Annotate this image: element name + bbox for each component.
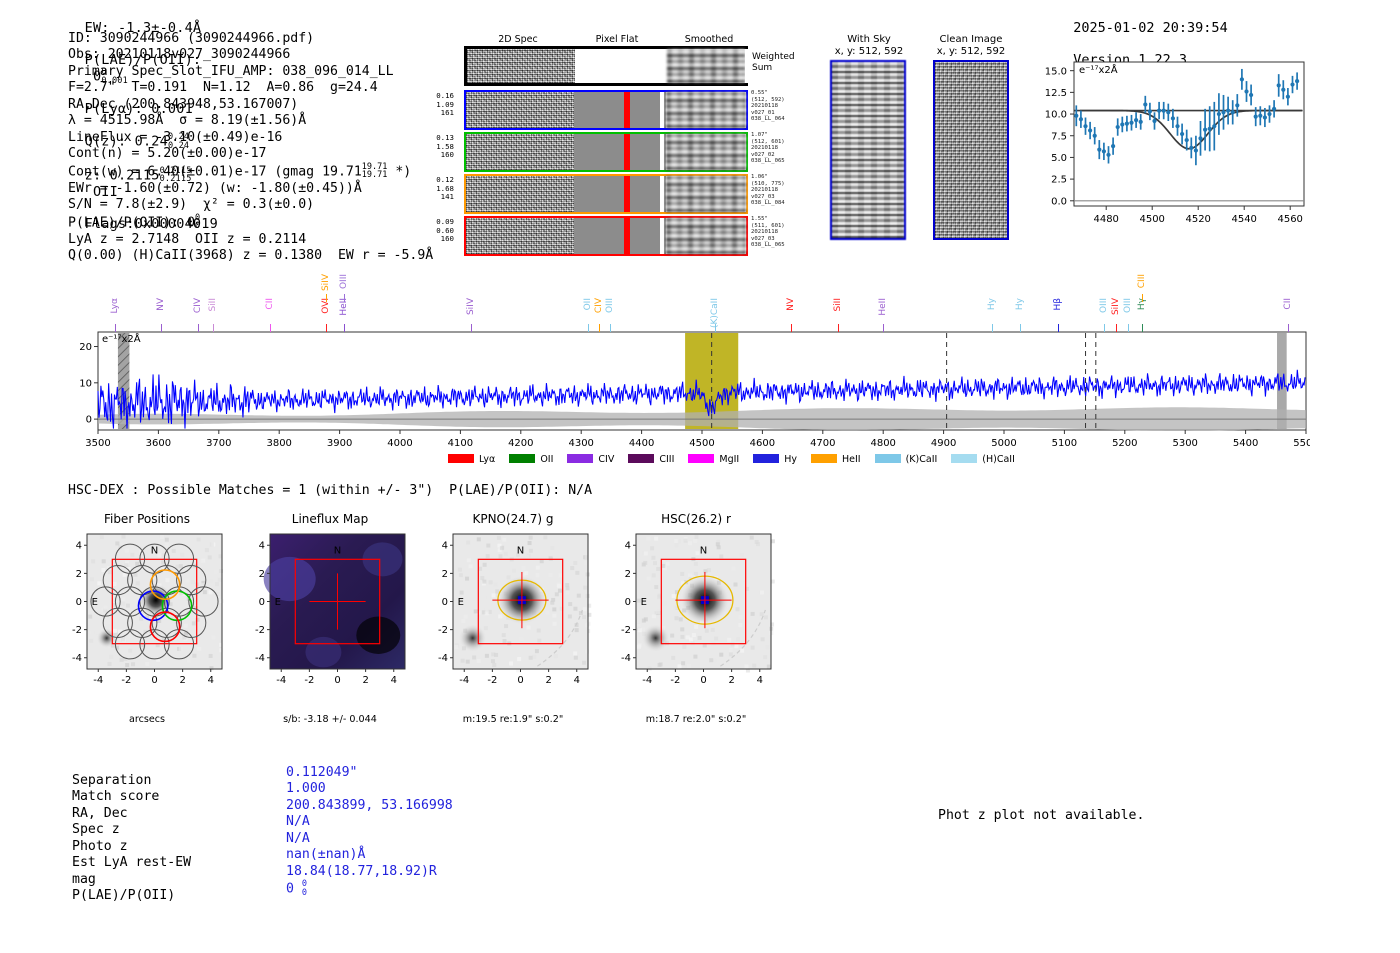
info-id: ID: 3090244966 (3090244966.pdf) [68,31,433,47]
svg-text:3700: 3700 [206,438,231,449]
svg-text:0.0: 0.0 [1051,196,1067,207]
svg-text:N: N [151,546,158,557]
match-table-key: Photo z [72,839,191,855]
legend-label: HeII [842,454,861,465]
cutout-title: Fiber Positions [57,512,237,526]
match-table-value: 1.000 [286,781,453,797]
svg-text:4: 4 [208,675,214,686]
svg-text:E: E [458,597,464,608]
emission-line-label-layer: LyαNVCIVSiIICIIOVISiIVHeIIOIIISiIVOIICIV… [60,272,1310,334]
info-cont-w-text: Cont(w) = 6.40(±0.01)e-17 (gmag 19.71 [68,164,362,179]
svg-text:E: E [641,597,647,608]
svg-text:0: 0 [700,675,706,686]
emission-line-tick [344,294,345,302]
fiber-row[interactable] [464,216,748,256]
svg-text:N: N [700,546,707,557]
fiber-center-marker [624,134,630,170]
info-ewr: EWr = -1.60(±0.72) (w: -1.80(±0.45))Å [68,181,433,197]
emission-line-tick [1142,294,1143,302]
svg-text:2: 2 [179,675,185,686]
svg-text:4520: 4520 [1185,214,1210,225]
cutout-title: KPNO(24.7) g [423,512,603,526]
emission-line-tick [326,294,327,302]
fiber-row[interactable] [464,132,748,172]
weighted-sum-pixelflat-image [575,49,667,83]
svg-text:4480: 4480 [1093,214,1118,225]
emission-line-label: CIV [193,298,203,313]
emission-line-label: Hy [987,298,997,310]
fiber-2dspec-image [466,176,574,212]
svg-text:4: 4 [76,541,82,552]
fiber-edge-marker [660,218,664,254]
fiber-id-label: 1.06" (510, 775) 20210118 v027_03 038_LL… [751,174,785,207]
fiber-id-label: 0.55" (512, 592) 20210118 v027_01 038_LL… [751,90,785,123]
emission-line-label: HeII [878,298,888,316]
emission-line-label: OIII [339,274,349,289]
emission-line-tick [213,324,214,332]
match-table-key: P(LAE)/P(OII) [72,888,191,904]
svg-text:2: 2 [728,675,734,686]
emission-line-label: SiII [208,298,218,312]
info-cont-w-sub: 19.71 [362,171,388,180]
svg-text:-2: -2 [487,675,497,686]
match-table-plae-value: 0 [286,882,294,897]
svg-text:-2: -2 [670,675,680,686]
fiber-row[interactable] [464,174,748,214]
svg-text:2: 2 [362,675,368,686]
fiber-metrics: 0.09 0.60 160 [418,218,454,244]
fiber-smoothed-image [666,92,746,128]
emission-line-label: SiIV [466,298,476,315]
emission-line-tick [883,324,884,332]
svg-text:2.5: 2.5 [1051,175,1067,186]
emission-line-tick [1104,324,1105,332]
cutout-caption: s/b: -3.18 +/- 0.044 [240,714,420,725]
svg-text:10: 10 [79,378,92,389]
cutout-caption: arcsecs [57,714,237,725]
svg-text:4500: 4500 [1139,214,1164,225]
svg-text:2: 2 [259,569,265,580]
fiber-smoothed-image [666,218,746,254]
svg-text:5100: 5100 [1052,438,1077,449]
col-header-pixelflat: Pixel Flat [572,34,662,45]
svg-text:3800: 3800 [266,438,291,449]
weighted-sum-2dspec-image [467,49,575,83]
cutout-panel-hsc-r[interactable]: HSC(26.2) r NE-4-4-2-2002244 m:18.7 re:2… [606,512,786,712]
svg-text:-4: -4 [276,675,286,686]
fiber-metrics: 0.12 1.68 141 [418,176,454,202]
match-table-key: Match score [72,789,191,805]
legend-item: CIV [567,454,614,465]
fiber-center-marker [624,218,630,254]
svg-text:20: 20 [79,342,92,353]
legend-item: CIII [628,454,674,465]
emission-line-label: CII [1283,298,1293,310]
legend-label: MgII [719,454,739,465]
fiber-2dspec-image [466,92,574,128]
match-table-key: Spec z [72,822,191,838]
info-lambda-sigma: λ = 4515.98Å σ = 8.19(±1.56)Å [68,113,433,129]
fiber-metrics: 0.13 1.58 160 [418,134,454,160]
with-sky-title: With Sky [826,34,912,45]
weighted-sum-label: Weighted Sum [752,52,795,74]
svg-text:0: 0 [334,675,340,686]
svg-text:5200: 5200 [1112,438,1137,449]
emission-line-label: OII [583,298,593,310]
svg-text:0: 0 [625,597,631,608]
info-radec: RA,Dec (200.843948,53.167007) [68,97,433,113]
svg-text:0: 0 [86,415,92,426]
svg-text:0: 0 [517,675,523,686]
weighted-sum-divider [745,49,748,83]
cutout-panel-kpno-g[interactable]: KPNO(24.7) g NE-4-4-2-2002244 m:19.5 re:… [423,512,603,712]
info-plae: P(LAE)/P(OII): 000 [68,214,433,232]
match-table-key: Est LyA rest-EW [72,855,191,871]
fiber-center-marker [624,176,630,212]
fiber-id-label: 1.07" (512, 601) 20210118 v027_02 038_LL… [751,132,785,165]
fiber-metric-3: 141 [418,193,454,202]
emission-line-tick [1128,324,1129,332]
info-qline: Q(0.00) (H)CaII(3968) z = 0.1380 EW r = … [68,248,433,264]
svg-text:4: 4 [757,675,763,686]
legend-label: (H)CaII [982,454,1015,465]
emission-line-label: OIII [1123,298,1133,313]
emission-line-label: NV [156,298,166,311]
cutout-caption: m:19.5 re:1.9" s:0.2" [423,714,603,725]
svg-text:-2: -2 [72,625,82,636]
match-table-value: N/A [286,831,453,847]
legend-swatch [628,454,654,463]
emission-line-label: Lyα [110,298,120,313]
emission-line-label: CIII [1137,274,1147,288]
fiber-edge-marker [660,92,664,128]
emission-line-tick [588,324,589,332]
svg-text:-2: -2 [621,625,631,636]
emission-line-label: Hy [1015,298,1025,310]
svg-text:-2: -2 [438,625,448,636]
fiber-metric-3: 161 [418,109,454,118]
emission-line-label: SiIV [1111,298,1121,315]
svg-text:7.5: 7.5 [1051,131,1067,142]
fiber-2dspec-image [466,134,574,170]
fiber-pixelflat-image [574,134,666,170]
emission-line-tick [1058,324,1059,332]
svg-text:5300: 5300 [1172,438,1197,449]
cutout-panel-lineflux-map[interactable]: Lineflux Map NE-4-4-2-2002244 s/b: -3.18… [240,512,420,712]
info-redshifts: LyA z = 2.7148 OII z = 0.2114 [68,232,433,248]
legend-swatch [448,454,474,463]
svg-text:15.0: 15.0 [1045,66,1067,77]
fiber-pixelflat-image [574,176,666,212]
emission-line-label: Hβ [1053,298,1063,311]
svg-text:5500: 5500 [1293,438,1310,449]
svg-text:0: 0 [151,675,157,686]
svg-text:2: 2 [545,675,551,686]
cutout-svg-kpno-g: NE-4-4-2-2002244 [423,526,603,712]
legend-item: Lyα [448,454,495,465]
match-table-value: nan(±nan)Å [286,847,453,863]
fiber-center-marker [624,92,630,128]
match-table-values: 0.112049"1.000200.843899, 53.166998N/AN/… [286,765,453,898]
svg-text:-2: -2 [255,625,265,636]
svg-text:-2: -2 [304,675,314,686]
legend-label: Lyα [479,454,495,465]
cutout-title: Lineflux Map [240,512,420,526]
emission-line-tick [1020,324,1021,332]
svg-text:3500: 3500 [85,438,110,449]
svg-text:2: 2 [442,569,448,580]
legend-swatch [567,454,593,463]
fiber-metric-3: 160 [418,235,454,244]
svg-text:E: E [275,597,281,608]
info-sn-chi2: S/N = 7.8(±2.9) χ² = 0.3(±0.0) [68,197,433,213]
svg-text:-4: -4 [642,675,652,686]
fiber-edge-marker [660,134,664,170]
emission-line-label: SiII [833,298,843,312]
legend-item: HeII [811,454,861,465]
cutout-panel-fiber-positions[interactable]: Fiber Positions NE-4-4-2-2002244 arcsecs [57,512,237,712]
match-table-value: 200.843899, 53.166998 [286,798,453,814]
match-table-plae-sub: 0 [302,889,307,898]
legend-label: CIV [598,454,614,465]
emission-line-tick [715,324,716,332]
svg-text:N: N [334,546,341,557]
legend-item: (H)CaII [951,454,1015,465]
match-table-value: 18.84(18.77,18.92)R [286,864,453,880]
emission-line-tick [838,324,839,332]
svg-text:4560: 4560 [1277,214,1302,225]
fiber-pixelflat-image [574,92,666,128]
emission-line-label: CIV [594,298,604,313]
emission-line-tick [344,324,345,332]
legend-swatch [951,454,977,463]
match-table-key: mag [72,872,191,888]
svg-text:E: E [92,597,98,608]
legend-item: (K)CaII [875,454,938,465]
cutout-svg-hsc-r: NE-4-4-2-2002244 [606,526,786,712]
svg-text:0: 0 [259,597,265,608]
svg-text:-2: -2 [121,675,131,686]
cutout-caption: m:18.7 re:2.0" s:0.2" [606,714,786,725]
svg-text:4000: 4000 [387,438,412,449]
match-table-value: 0 00 [286,880,453,898]
match-table-value: 0.112049" [286,765,453,781]
svg-text:4: 4 [625,541,631,552]
col-header-smoothed: Smoothed [664,34,754,45]
svg-text:5.0: 5.0 [1051,153,1067,164]
cutout-svg-fiber-positions: NE-4-4-2-2002244 [57,526,237,712]
with-sky-coords: x, y: 512, 592 [818,46,920,57]
info-plae-label: P(LAE)/P(OII): 0 [68,215,195,230]
legend-label: (K)CaII [906,454,938,465]
with-sky-image[interactable] [830,60,906,240]
info-params: F=2.7" T=0.191 N=1.12 A=0.86 g=24.4 [68,80,433,96]
detection-info-block: ID: 3090244966 (3090244966.pdf) Obs: 202… [68,31,433,265]
emission-line-tick [270,324,271,332]
svg-text:e⁻¹⁷x2Å: e⁻¹⁷x2Å [1079,63,1118,76]
cutout-svg-lineflux-map: NE-4-4-2-2002244 [240,526,420,712]
svg-text:-4: -4 [621,653,631,664]
info-obs: Obs: 20210118v027_3090244966 [68,47,433,63]
svg-text:5400: 5400 [1233,438,1258,449]
fiber-id-label: 1.55" (511, 601) 20210118 v027_03 038_LL… [751,216,785,249]
clean-image-cutout[interactable] [933,60,1009,240]
fiber-smoothed-image [666,134,746,170]
svg-text:4540: 4540 [1231,214,1256,225]
fiber-row[interactable] [464,90,748,130]
svg-text:0: 0 [76,597,82,608]
weighted-sum-strip [464,46,748,86]
photz-note: Phot z plot not available. [938,808,1144,823]
spectrum-legend: LyαOIICIVCIIIMgIIHyHeII(K)CaII(H)CaII [448,447,1029,461]
svg-text:N: N [517,546,524,557]
legend-item: OII [509,454,553,465]
match-table-value: N/A [286,814,453,830]
legend-swatch [509,454,535,463]
svg-text:0: 0 [442,597,448,608]
match-table-key: Separation [72,773,191,789]
fiber-pixelflat-image [574,218,666,254]
emission-line-tick [1288,324,1289,332]
info-cont-w-post: *) [395,164,411,179]
col-header-2dspec: 2D Spec [468,34,568,45]
info-lineflux: LineFlux = -3.10(±0.49)e-16 [68,130,433,146]
legend-label: CIII [659,454,674,465]
svg-text:3600: 3600 [146,438,171,449]
emission-line-label: CII [265,298,275,310]
info-plae-sub: 0 [195,222,200,231]
match-table-key: RA, Dec [72,806,191,822]
svg-text:4: 4 [442,541,448,552]
header-timestamp: 2025-01-02 20:39:54 [1073,20,1227,36]
svg-text:-4: -4 [438,653,448,664]
legend-swatch [875,454,901,463]
line-fit-svg: 0.02.55.07.510.012.515.04480450045204540… [1028,48,1310,248]
cutout-title: HSC(26.2) r [606,512,786,526]
weighted-sum-smoothed-image [667,49,745,83]
emission-line-tick [1116,324,1117,332]
svg-text:3900: 3900 [327,438,352,449]
emission-line-tick [1142,324,1143,332]
svg-text:2: 2 [76,569,82,580]
svg-text:2: 2 [625,569,631,580]
info-cont-n: Cont(n) = 5.20(±0.00)e-17 [68,146,433,162]
clean-image-coords: x, y: 512, 592 [920,46,1022,57]
fiber-metric-3: 160 [418,151,454,160]
emission-line-tick [198,324,199,332]
legend-label: OII [540,454,553,465]
svg-text:-4: -4 [72,653,82,664]
svg-text:4: 4 [259,541,265,552]
match-table-keys: SeparationMatch scoreRA, DecSpec zPhoto … [72,773,191,905]
emission-line-tick [791,324,792,332]
emission-line-tick [992,324,993,332]
legend-item: MgII [688,454,739,465]
emission-line-tick [610,324,611,332]
legend-item: Hy [753,454,797,465]
emission-line-label: OIII [605,298,615,313]
emission-line-label: OIII [1099,298,1109,313]
info-cont-w: Cont(w) = 6.40(±0.01)e-17 (gmag 19.7119.… [68,163,433,181]
svg-text:4: 4 [574,675,580,686]
svg-text:12.5: 12.5 [1045,88,1067,99]
emission-line-label: NV [786,298,796,311]
legend-swatch [688,454,714,463]
svg-text:-4: -4 [93,675,103,686]
info-primary-spec: Primary Spec_Slot_IFU_AMP: 038_096_014_L… [68,64,433,80]
svg-text:4: 4 [391,675,397,686]
legend-label: Hy [784,454,797,465]
fiber-2dspec-image [466,218,574,254]
emission-line-tick [471,324,472,332]
fiber-metrics: 0.16 1.09 161 [418,92,454,118]
legend-swatch [811,454,837,463]
fiber-smoothed-image [666,176,746,212]
svg-text:10.0: 10.0 [1045,110,1067,121]
emission-line-tick [161,324,162,332]
emission-line-tick [115,324,116,332]
emission-line-tick [599,324,600,332]
fiber-edge-marker [660,176,664,212]
emission-line-label: SiIV [321,274,331,291]
svg-text:-4: -4 [255,653,265,664]
line-fit-plot[interactable]: 0.02.55.07.510.012.515.04480450045204540… [1028,48,1310,248]
catalog-header: HSC-DEX : Possible Matches = 1 (within +… [68,483,592,498]
legend-swatch [753,454,779,463]
emission-line-tick [326,324,327,332]
svg-text:-4: -4 [459,675,469,686]
clean-image-title: Clean Image [923,34,1019,45]
